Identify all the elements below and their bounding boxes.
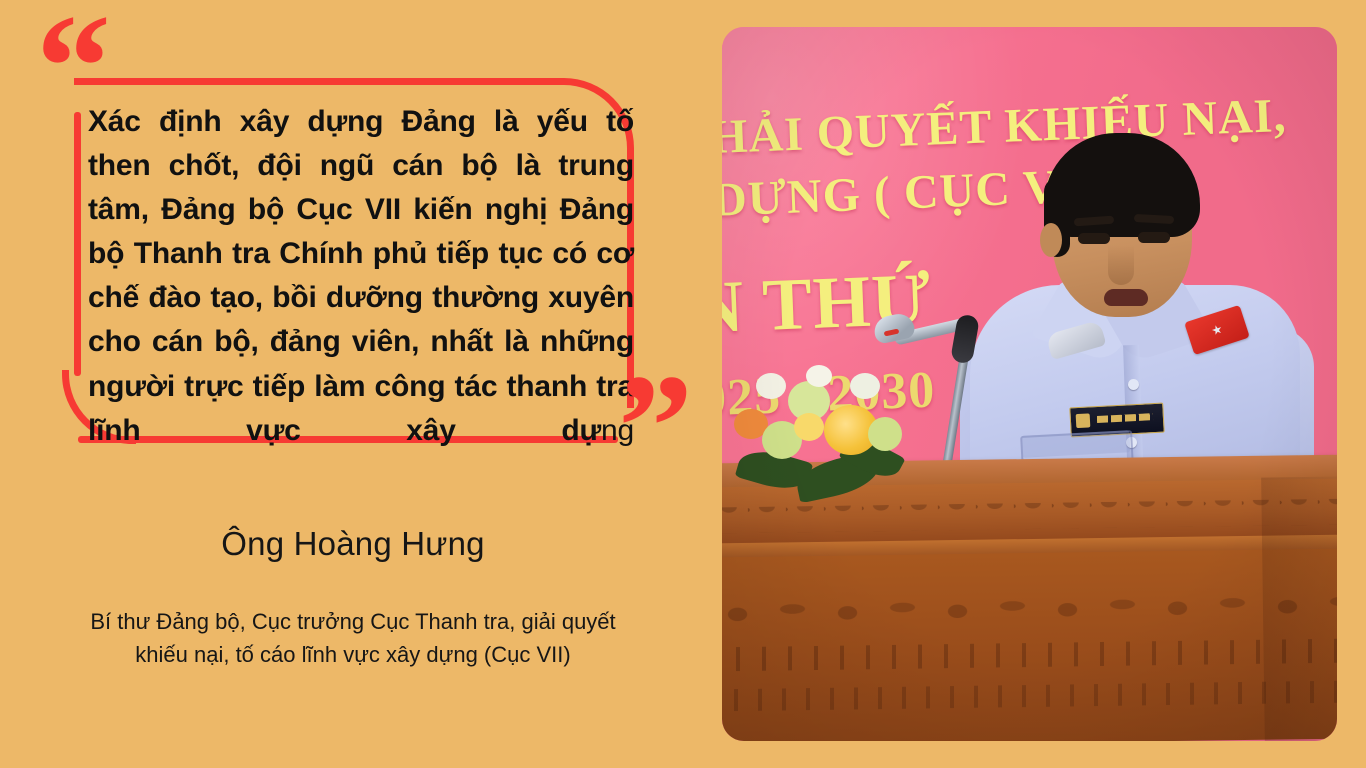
white-gypsophila: [806, 365, 832, 387]
podium-side-shadow: [1261, 476, 1337, 741]
green-lisianthus: [868, 417, 902, 451]
mouth: [1104, 289, 1148, 306]
speaker-photo: HẢI QUYẾT KHIẾU NẠI, DỰNG ( CỤC VII) N T…: [722, 27, 1337, 741]
yellow-flower: [794, 413, 824, 441]
speaker-name: Ông Hoàng Hưng: [0, 525, 706, 563]
eye-right: [1138, 232, 1170, 243]
speaker-role: Bí thư Đảng bộ, Cục trưởng Cục Thanh tra…: [70, 605, 636, 672]
quote-panel: “ Xác định xây dựng Đảng là yếu tố then …: [0, 0, 706, 768]
flower-arrangement: [732, 357, 900, 507]
poster-canvas: “ Xác định xây dựng Đảng là yếu tố then …: [0, 0, 1366, 768]
eye-left: [1078, 233, 1110, 244]
ear: [1040, 223, 1062, 257]
shirt-button: [1128, 379, 1139, 390]
closing-quote-mark: ”: [618, 352, 687, 502]
nose: [1108, 245, 1134, 285]
podium-scroll-carving: [722, 581, 1337, 636]
quote-frame-left-bar: [74, 112, 81, 376]
white-gypsophila: [756, 373, 786, 399]
quote-text-main: Xác định xây dựng Đảng là yếu tố then ch…: [88, 105, 634, 447]
quote-text: Xác định xây dựng Đảng là yếu tố then ch…: [88, 100, 634, 453]
white-gypsophila: [850, 373, 880, 399]
